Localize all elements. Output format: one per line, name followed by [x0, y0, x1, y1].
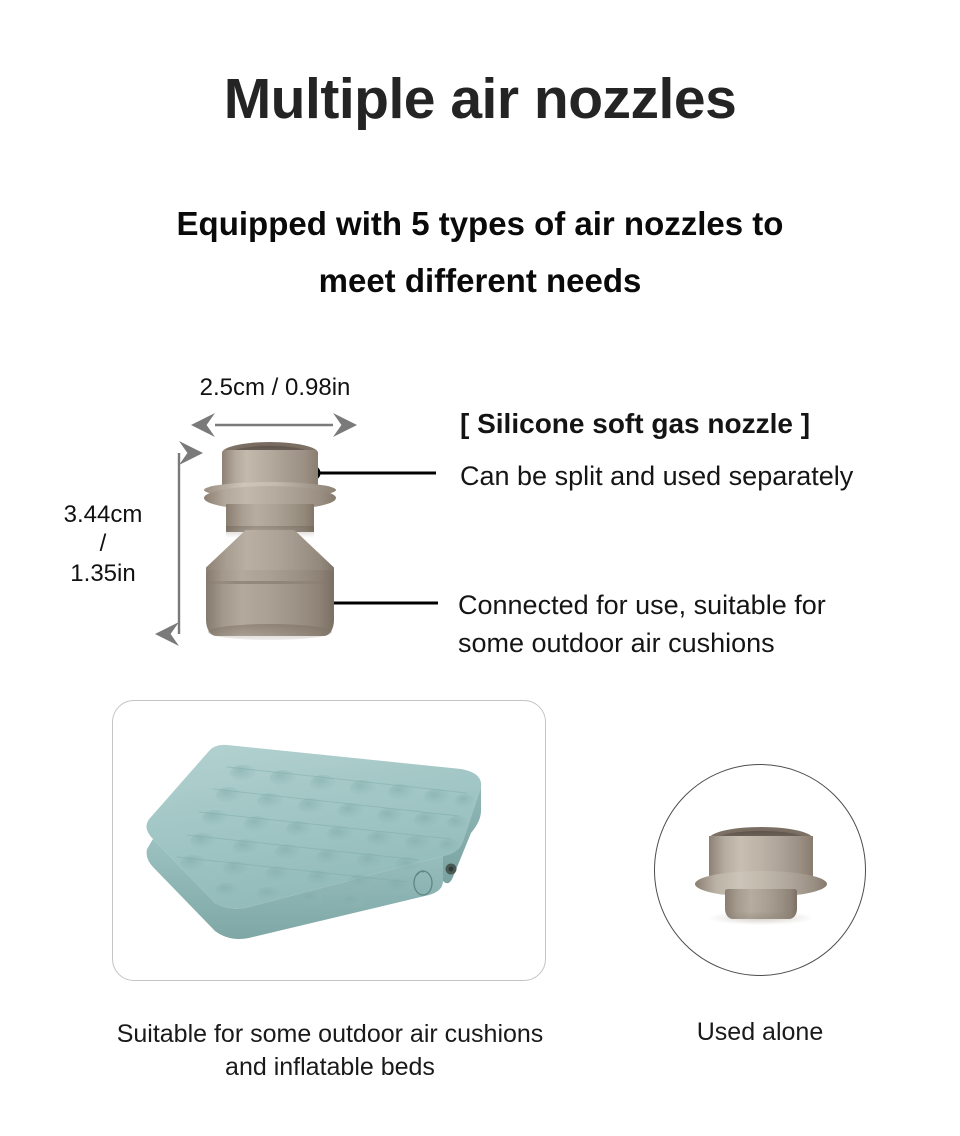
height-dimension-separator: /	[38, 529, 168, 558]
height-dimension-in: 1.35in	[38, 559, 168, 588]
page-subtitle: Equipped with 5 types of air nozzles to …	[110, 196, 850, 310]
solo-nozzle-circle-inset	[654, 764, 866, 976]
nozzle-product-photo	[196, 442, 344, 640]
mattress-caption-line-1: Suitable for some outdoor air cushions	[40, 1018, 620, 1051]
callout-2-line-2: some outdoor air cushions	[458, 624, 948, 662]
solo-collar-shadow	[709, 911, 813, 925]
solo-collar-image	[695, 827, 827, 919]
callout-2-line-1: Connected for use, suitable for	[458, 586, 948, 624]
callout-text-connected-use: Connected for use, suitable for some out…	[458, 586, 948, 663]
width-dimension-label: 2.5cm / 0.98in	[130, 374, 420, 402]
height-dimension-label: 3.44cm / 1.35in	[38, 500, 168, 588]
infographic-page: Multiple air nozzles Equipped with 5 typ…	[0, 0, 960, 1136]
callout-text-split-use: Can be split and used separately	[460, 460, 940, 494]
mattress-caption: Suitable for some outdoor air cushions a…	[40, 1018, 620, 1084]
air-mattress-image	[131, 729, 531, 959]
callout-heading: [ Silicone soft gas nozzle ]	[460, 408, 810, 440]
mattress-caption-line-2: and inflatable beds	[40, 1051, 620, 1084]
page-title: Multiple air nozzles	[0, 68, 960, 131]
subtitle-line-2: meet different needs	[110, 253, 850, 310]
nozzle-base-bottom-shadow	[208, 624, 332, 640]
subtitle-line-1: Equipped with 5 types of air nozzles to	[110, 196, 850, 253]
nozzle-base-seam	[206, 581, 334, 584]
height-dimension-cm: 3.44cm	[38, 500, 168, 529]
solo-caption: Used alone	[640, 1018, 880, 1047]
mattress-photo-frame	[112, 700, 546, 981]
